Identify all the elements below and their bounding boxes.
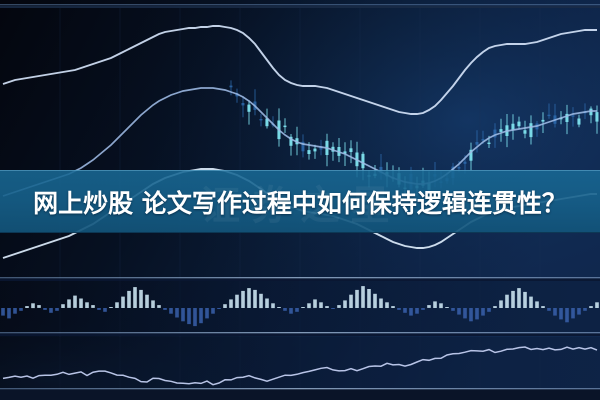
histogram-bar [235, 295, 239, 308]
histogram-bar [337, 305, 341, 308]
histogram-bar [151, 300, 155, 308]
oscillator-line-panel [0, 337, 600, 390]
histogram-bar [241, 291, 245, 308]
histogram-bar [49, 308, 53, 313]
histogram-bar [133, 287, 137, 308]
histogram-bar [289, 308, 293, 314]
histogram-bar [493, 306, 497, 308]
candle-body [457, 167, 460, 168]
histogram-bar [583, 308, 587, 311]
histogram-bar [121, 297, 125, 308]
histogram-bar [73, 296, 77, 308]
panel-separator-1 [0, 277, 600, 281]
histogram-bar [463, 308, 467, 318]
histogram-bar [187, 308, 191, 324]
panel-separator-2 [0, 332, 600, 336]
histogram-bar [43, 308, 47, 310]
histogram-bar [541, 306, 545, 308]
histogram-bar [127, 291, 131, 308]
candle-body [313, 149, 316, 152]
top-border-line [0, 4, 600, 8]
histogram-bar [415, 308, 419, 314]
histogram-bar [547, 308, 551, 311]
histogram-bar [331, 308, 335, 309]
histogram-bar [169, 308, 173, 314]
histogram-bar [193, 308, 197, 326]
candle-body [463, 162, 466, 164]
candle-body [517, 122, 520, 127]
histogram-bar [145, 295, 149, 308]
histogram-bar [109, 307, 113, 308]
histogram-bar [67, 299, 71, 308]
histogram-bar [19, 308, 23, 311]
candle-body [487, 143, 490, 144]
histogram-bar [367, 289, 371, 308]
histogram-bar [55, 308, 59, 311]
histogram-bar [79, 299, 83, 309]
histogram-bar [217, 308, 221, 309]
histogram-bar [397, 308, 401, 310]
histogram-bar [385, 302, 389, 308]
histogram-bar [511, 291, 515, 308]
histogram-bar [577, 308, 581, 315]
histogram-bar [361, 286, 365, 308]
histogram-bar [25, 306, 29, 308]
histogram-bar [343, 300, 347, 308]
candle-body [595, 112, 598, 122]
histogram-bar [469, 308, 473, 321]
candle-body [349, 148, 352, 152]
candle-body [571, 115, 574, 116]
histogram-bar [115, 302, 119, 308]
candle-body [541, 120, 544, 122]
candle-body [361, 154, 364, 168]
histogram-bar [139, 290, 143, 308]
histogram-bar [37, 305, 41, 308]
histogram-bar [181, 308, 185, 321]
histogram-bar [421, 308, 425, 310]
histogram-bar [307, 303, 311, 308]
histogram-bar [439, 303, 443, 308]
histogram-bar [61, 304, 65, 308]
histogram-bar [295, 308, 299, 312]
histogram-bar [553, 308, 557, 316]
histogram-bar [391, 306, 395, 308]
candle-body [307, 150, 310, 154]
candle-body [259, 119, 262, 120]
histogram-bar [31, 303, 35, 308]
histogram-bar [175, 308, 179, 318]
histogram-bar [565, 308, 569, 322]
histogram-bar [373, 294, 377, 308]
histogram-bar [277, 307, 281, 308]
histogram-bar [379, 299, 383, 309]
histogram-bar [103, 308, 107, 312]
candle-body [247, 105, 250, 112]
histogram-bar [313, 299, 317, 308]
histogram-bar [163, 308, 167, 310]
histogram-bar [247, 288, 251, 308]
histogram-bar [451, 308, 455, 311]
histogram-bar [211, 308, 215, 314]
histogram-bar [523, 292, 527, 308]
histogram-bar [7, 308, 11, 318]
histogram-bar [475, 308, 479, 319]
histogram-bar [571, 308, 575, 318]
histogram-bar [253, 290, 257, 308]
candle-body [241, 103, 244, 105]
candle-body [523, 130, 526, 134]
candle-body [577, 119, 580, 125]
histogram-bar [205, 308, 209, 318]
histogram-bar [91, 305, 95, 308]
candle-body [529, 123, 532, 137]
histogram-bar [517, 288, 521, 308]
histogram-bar [487, 308, 491, 312]
histogram-bar [301, 307, 305, 308]
histogram-bar [433, 301, 437, 308]
histogram-bar [1, 308, 5, 316]
candle-body [511, 124, 514, 130]
candle-body [547, 115, 550, 116]
candle-body [229, 86, 232, 88]
histogram-bar [283, 308, 287, 311]
histogram-bar [223, 304, 227, 308]
histogram-bar [481, 308, 485, 316]
histogram-bar [13, 308, 17, 314]
histogram-bar [529, 297, 533, 308]
histogram-bar [157, 305, 161, 308]
histogram-bar [595, 302, 599, 308]
histogram-bar [409, 308, 413, 316]
histogram-bar [319, 302, 323, 308]
histogram-bar [535, 301, 539, 308]
candle-body [475, 142, 478, 145]
headline-title: 网上炒股 论文写作过程中如何保持逻辑连贯性？ [33, 184, 567, 220]
histogram-bar [97, 308, 101, 310]
histogram-bar [355, 290, 359, 308]
histogram-bar [589, 306, 593, 308]
stock-chart-banner-image: 证券之星 网上炒股 论文写作过程中如何保持逻辑连贯性？ [0, 0, 600, 400]
histogram-bar [499, 300, 503, 308]
histogram-bar [559, 308, 563, 319]
histogram-bar [265, 299, 269, 309]
histogram-bar [259, 294, 263, 308]
headline-banner: 证券之星 网上炒股 论文写作过程中如何保持逻辑连贯性？ [0, 170, 600, 233]
histogram-bar [325, 306, 329, 308]
bottom-border-line [0, 388, 600, 400]
histogram-bar [271, 303, 275, 308]
histogram-bar [457, 308, 461, 315]
histogram-bar [349, 295, 353, 308]
histogram-bar [505, 295, 509, 308]
histogram-bar [85, 302, 89, 308]
histogram-bar [199, 308, 203, 323]
macd-histogram-panel [0, 281, 600, 332]
candle-body [283, 126, 286, 128]
histogram-bar [229, 299, 233, 308]
histogram-bar [427, 305, 431, 308]
histogram-bar [403, 308, 407, 313]
histogram-bar [445, 307, 449, 308]
candle-body [499, 129, 502, 132]
